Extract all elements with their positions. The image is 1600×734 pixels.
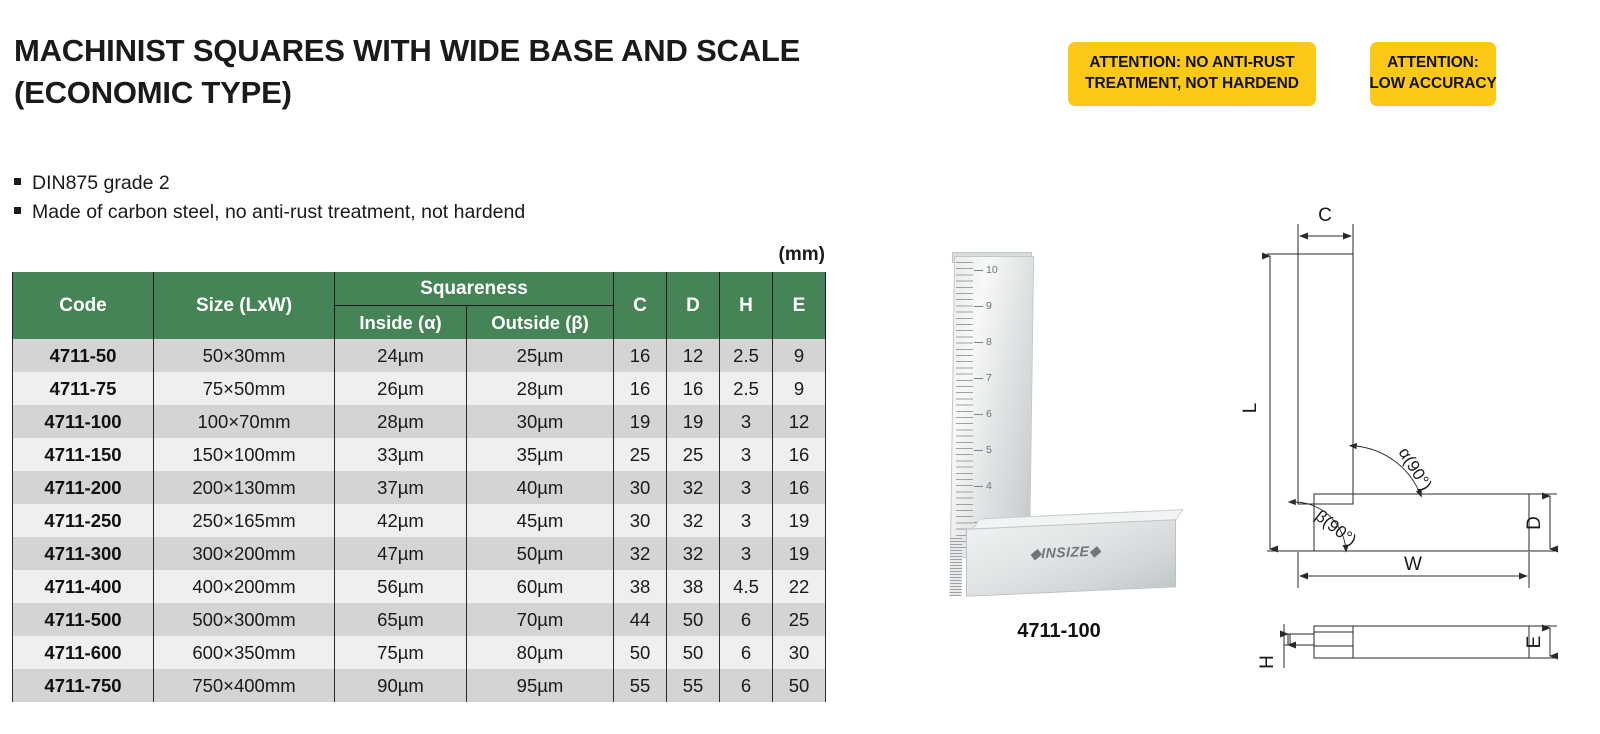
cell-inside: 56µm — [335, 570, 467, 603]
cell-e: 12 — [773, 405, 826, 438]
table-unit-label: (mm) — [0, 244, 825, 266]
cell-outside: 40µm — [467, 471, 614, 504]
dimension-label-h: H — [1257, 655, 1278, 669]
cell-e: 19 — [773, 537, 826, 570]
cell-outside: 80µm — [467, 636, 614, 669]
dimension-label-c: C — [1318, 205, 1332, 226]
specification-table: Code Size (LxW) Squareness C D H E Insid… — [12, 272, 826, 702]
column-header-h: H — [720, 272, 773, 339]
cell-inside: 65µm — [335, 603, 467, 636]
ruler-major-tick — [974, 306, 983, 307]
table-row: 4711-150150×100mm33µm35µm2525316 — [13, 438, 826, 471]
cell-c: 30 — [614, 471, 667, 504]
dimension-label-e: E — [1524, 636, 1545, 649]
cell-h: 3 — [720, 471, 773, 504]
table-row: 4711-5050×30mm24µm25µm16122.59 — [13, 339, 826, 372]
cell-size: 750×400mm — [154, 669, 335, 702]
column-header-e: E — [773, 272, 826, 339]
page-title-line-2: (ECONOMIC TYPE) — [14, 72, 974, 114]
blade-serrated-edge — [949, 538, 962, 596]
ruler-number: 7 — [986, 372, 992, 384]
cell-inside: 37µm — [335, 471, 467, 504]
cell-outside: 35µm — [467, 438, 614, 471]
cell-inside: 47µm — [335, 537, 467, 570]
logo-arrow-right-icon: ◆ — [1089, 542, 1100, 559]
cell-inside: 26µm — [335, 372, 467, 405]
cell-c: 44 — [614, 603, 667, 636]
cell-h: 2.5 — [720, 372, 773, 405]
cell-d: 50 — [667, 603, 720, 636]
cell-c: 16 — [614, 372, 667, 405]
bullet-square-icon — [14, 207, 21, 214]
cell-size: 75×50mm — [154, 372, 335, 405]
cell-c: 30 — [614, 504, 667, 537]
cell-d: 32 — [667, 537, 720, 570]
cell-code: 4711-50 — [13, 339, 154, 372]
cell-e: 30 — [773, 636, 826, 669]
cell-code: 4711-100 — [13, 405, 154, 438]
cell-code: 4711-400 — [13, 570, 154, 603]
bullet-square-icon — [14, 178, 21, 185]
badge-line-2: LOW ACCURACY — [1369, 74, 1496, 95]
drawing-blade-outline — [1298, 254, 1353, 504]
cell-outside: 30µm — [467, 405, 614, 438]
cell-e: 9 — [773, 339, 826, 372]
cell-c: 38 — [614, 570, 667, 603]
ruler-major-tick — [974, 270, 983, 271]
cell-d: 16 — [667, 372, 720, 405]
cell-d: 25 — [667, 438, 720, 471]
cell-size: 150×100mm — [154, 438, 335, 471]
ruler-major-tick — [974, 486, 983, 487]
ruler-number: 8 — [986, 336, 992, 348]
ruler-number: 5 — [986, 444, 992, 456]
page-title-line-1: MACHINIST SQUARES WITH WIDE BASE AND SCA… — [14, 30, 974, 72]
table-row: 4711-500500×300mm65µm70µm4450625 — [13, 603, 826, 636]
cell-e: 50 — [773, 669, 826, 702]
column-header-c: C — [614, 272, 667, 339]
badge-line-1: ATTENTION: NO ANTI-RUST — [1089, 53, 1294, 74]
cell-d: 38 — [667, 570, 720, 603]
table-header: Code Size (LxW) Squareness C D H E Insid… — [13, 272, 826, 339]
cell-d: 50 — [667, 636, 720, 669]
cell-inside: 90µm — [335, 669, 467, 702]
product-photo: 109876543 ◆INSIZE◆ — [930, 248, 1188, 618]
ruler-major-tick — [974, 414, 983, 415]
cell-size: 600×350mm — [154, 636, 335, 669]
ruler-major-tick — [974, 450, 983, 451]
cell-code: 4711-250 — [13, 504, 154, 537]
cell-d: 55 — [667, 669, 720, 702]
cell-inside: 24µm — [335, 339, 467, 372]
cell-size: 50×30mm — [154, 339, 335, 372]
cell-code: 4711-750 — [13, 669, 154, 702]
logo-arrow-left-icon: ◆ — [1030, 545, 1041, 562]
cell-c: 32 — [614, 537, 667, 570]
badge-line-2: TREATMENT, NOT HARDEND — [1085, 74, 1299, 95]
attention-badge-no-anti-rust: ATTENTION: NO ANTI-RUST TREATMENT, NOT H… — [1068, 42, 1316, 106]
cell-d: 32 — [667, 504, 720, 537]
ruler-number: 10 — [986, 264, 998, 276]
badge-line-1: ATTENTION: — [1387, 53, 1479, 74]
cell-inside: 28µm — [335, 405, 467, 438]
cell-code: 4711-75 — [13, 372, 154, 405]
table-body: 4711-5050×30mm24µm25µm16122.594711-7575×… — [13, 339, 826, 702]
cell-inside: 75µm — [335, 636, 467, 669]
table-row: 4711-250250×165mm42µm45µm3032319 — [13, 504, 826, 537]
cell-d: 32 — [667, 471, 720, 504]
cell-h: 6 — [720, 636, 773, 669]
angle-label-alpha: α(90°) — [1395, 444, 1436, 494]
cell-c: 50 — [614, 636, 667, 669]
cell-outside: 25µm — [467, 339, 614, 372]
table-row: 4711-750750×400mm90µm95µm5555650 — [13, 669, 826, 702]
cell-outside: 70µm — [467, 603, 614, 636]
table-row: 4711-600600×350mm75µm80µm5050630 — [13, 636, 826, 669]
cell-c: 25 — [614, 438, 667, 471]
cell-size: 500×300mm — [154, 603, 335, 636]
dimension-label-l: L — [1240, 403, 1261, 414]
technical-drawing: C L W D H E α(90°) β(90°) — [1222, 196, 1572, 676]
table-row: 4711-100100×70mm28µm30µm1919312 — [13, 405, 826, 438]
cell-h: 3 — [720, 405, 773, 438]
cell-e: 19 — [773, 504, 826, 537]
cell-h: 3 — [720, 438, 773, 471]
product-caption: 4711-100 — [930, 620, 1188, 643]
table-row: 4711-400400×200mm56µm60µm38384.522 — [13, 570, 826, 603]
cell-size: 100×70mm — [154, 405, 335, 438]
cell-e: 9 — [773, 372, 826, 405]
cell-code: 4711-150 — [13, 438, 154, 471]
ruler-number: 6 — [986, 408, 992, 420]
cell-size: 200×130mm — [154, 471, 335, 504]
ruler-number: 9 — [986, 300, 992, 312]
cell-d: 19 — [667, 405, 720, 438]
cell-size: 300×200mm — [154, 537, 335, 570]
column-header-size: Size (LxW) — [154, 272, 335, 339]
cell-code: 4711-500 — [13, 603, 154, 636]
table-row: 4711-200200×130mm37µm40µm3032316 — [13, 471, 826, 504]
column-header-outside: Outside (β) — [467, 306, 614, 340]
cell-d: 12 — [667, 339, 720, 372]
cell-size: 250×165mm — [154, 504, 335, 537]
cell-size: 400×200mm — [154, 570, 335, 603]
cell-inside: 33µm — [335, 438, 467, 471]
cell-h: 3 — [720, 504, 773, 537]
cell-h: 2.5 — [720, 339, 773, 372]
attention-badge-low-accuracy: ATTENTION: LOW ACCURACY — [1370, 42, 1496, 106]
cell-inside: 42µm — [335, 504, 467, 537]
cell-outside: 28µm — [467, 372, 614, 405]
logo-text: INSIZE — [1041, 543, 1089, 561]
list-item: DIN875 grade 2 — [14, 170, 834, 198]
column-header-d: D — [667, 272, 720, 339]
cell-outside: 50µm — [467, 537, 614, 570]
cell-outside: 95µm — [467, 669, 614, 702]
feature-text: DIN875 grade 2 — [32, 170, 170, 198]
cell-e: 16 — [773, 438, 826, 471]
cell-c: 19 — [614, 405, 667, 438]
table-row: 4711-7575×50mm26µm28µm16162.59 — [13, 372, 826, 405]
cell-e: 16 — [773, 471, 826, 504]
cell-c: 16 — [614, 339, 667, 372]
ruler-major-tick — [974, 342, 983, 343]
feature-list: DIN875 grade 2 Made of carbon steel, no … — [14, 170, 834, 227]
ruler-major-tick — [974, 378, 983, 379]
insize-brand-logo: ◆INSIZE◆ — [1030, 542, 1101, 562]
cell-outside: 60µm — [467, 570, 614, 603]
column-header-squareness: Squareness — [335, 272, 614, 306]
cell-h: 4.5 — [720, 570, 773, 603]
cell-code: 4711-300 — [13, 537, 154, 570]
cell-code: 4711-200 — [13, 471, 154, 504]
ruler-ticks — [956, 262, 973, 552]
dimension-label-d: D — [1524, 516, 1545, 530]
feature-text: Made of carbon steel, no anti-rust treat… — [32, 199, 525, 227]
cell-outside: 45µm — [467, 504, 614, 537]
list-item: Made of carbon steel, no anti-rust treat… — [14, 199, 834, 227]
cell-code: 4711-600 — [13, 636, 154, 669]
table-row: 4711-300300×200mm47µm50µm3232319 — [13, 537, 826, 570]
column-header-code: Code — [13, 272, 154, 339]
cell-h: 6 — [720, 669, 773, 702]
cell-h: 6 — [720, 603, 773, 636]
ruler-number: 4 — [986, 480, 992, 492]
cell-h: 3 — [720, 537, 773, 570]
cell-e: 25 — [773, 603, 826, 636]
column-header-inside: Inside (α) — [335, 306, 467, 340]
cell-e: 22 — [773, 570, 826, 603]
cell-c: 55 — [614, 669, 667, 702]
page-title: MACHINIST SQUARES WITH WIDE BASE AND SCA… — [14, 30, 974, 113]
angle-label-beta: β(90°) — [1312, 506, 1361, 550]
drawing-bottom-view-base — [1314, 626, 1529, 658]
dimension-label-w: W — [1404, 554, 1422, 575]
